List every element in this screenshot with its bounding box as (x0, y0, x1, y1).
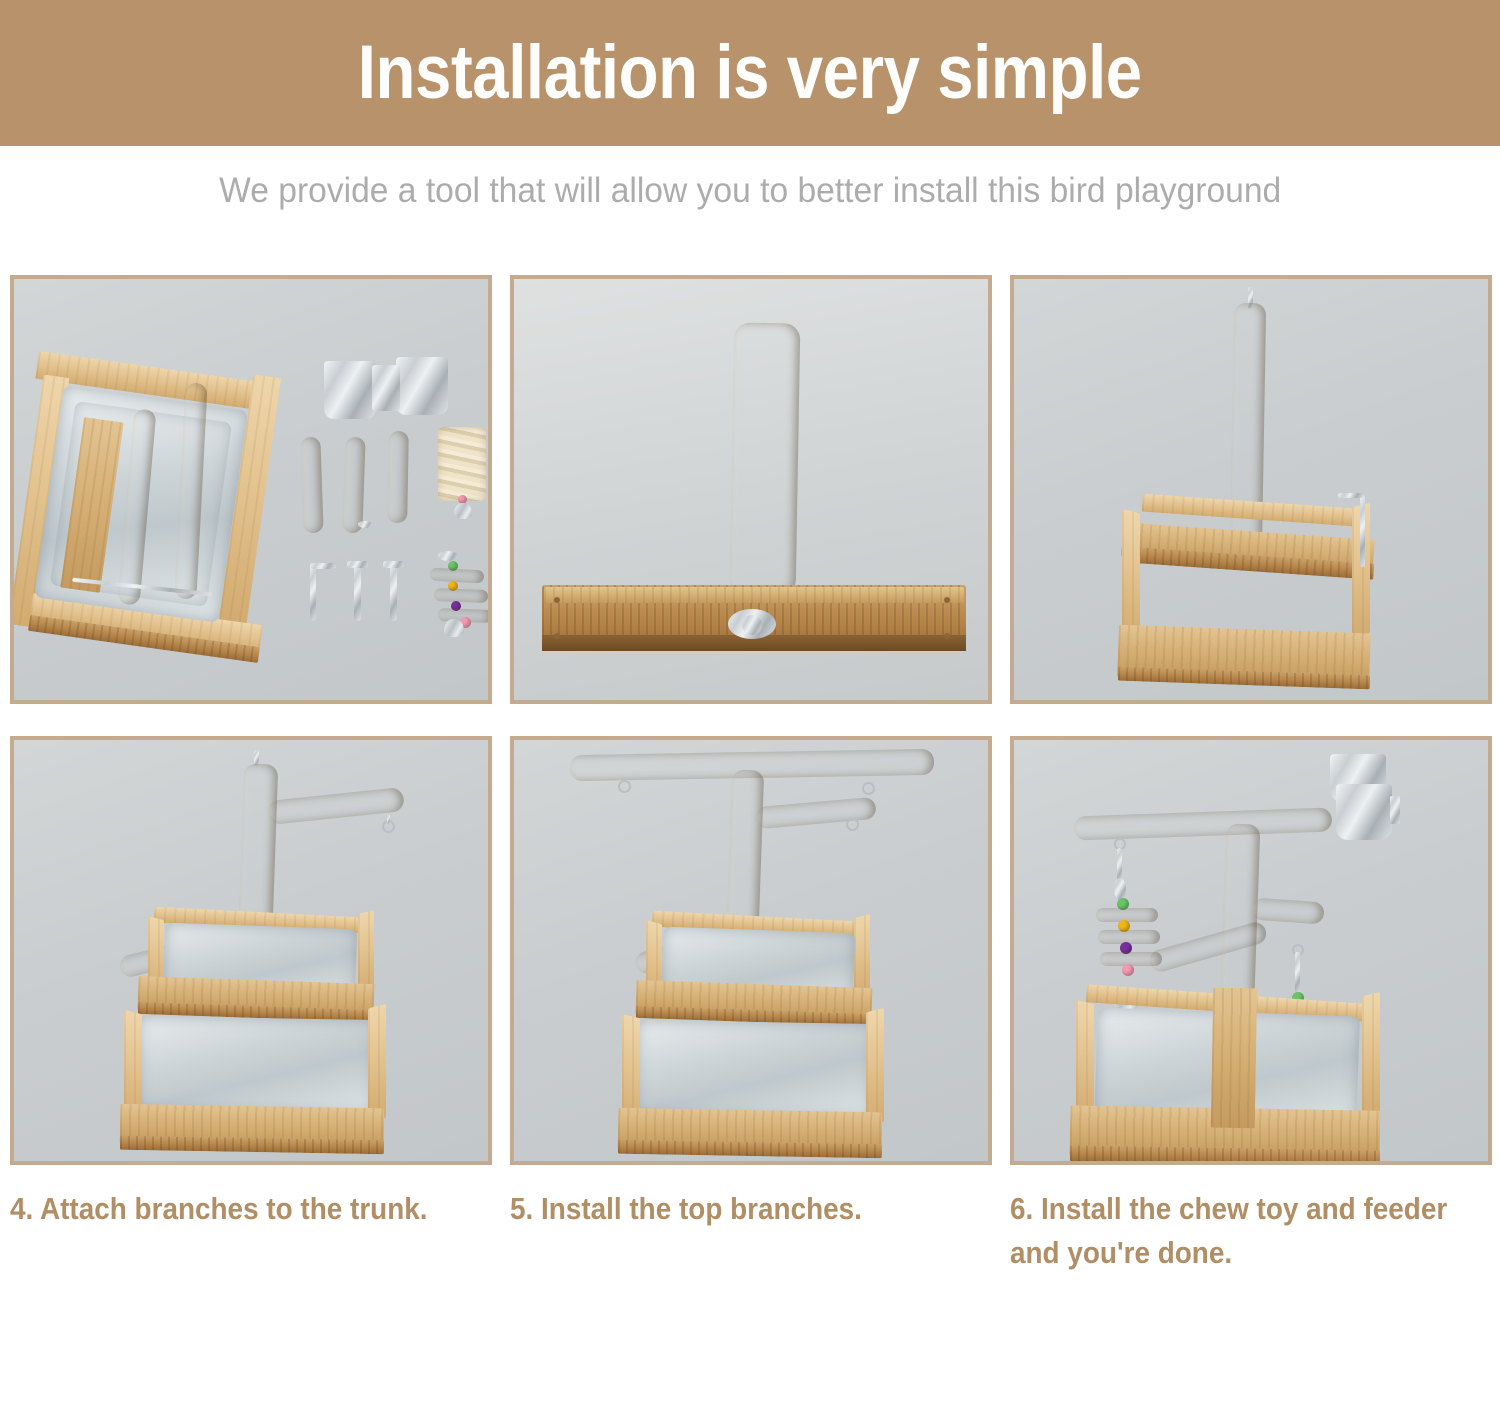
step-card-2: 2. Connect the trunk to the beam. (500, 234, 1000, 704)
step-photo-2 (510, 275, 992, 704)
header-band: Installation is very simple (0, 0, 1500, 146)
step-caption-6: 6. Install the chew toy and feeder and y… (1010, 1187, 1490, 1275)
step-photo-4 (10, 736, 492, 1165)
step-caption-5: 5. Install the top branches. (510, 1187, 990, 1231)
step-card-4: 4. Attach branches to the trunk. (0, 704, 500, 1294)
step-photo-3 (1010, 275, 1492, 704)
step-caption-4: 4. Attach branches to the trunk. (10, 1187, 490, 1231)
steps-row-top: 1. Check the packing list. (0, 234, 1500, 704)
step-photo-6 (1010, 736, 1492, 1165)
step-card-6: 6. Install the chew toy and feeder and y… (1000, 704, 1500, 1294)
step-photo-5 (510, 736, 992, 1165)
page-title: Installation is very simple (358, 35, 1142, 111)
steps-grid: 1. Check the packing list. (0, 234, 1500, 1294)
page-subtitle: We provide a tool that will allow you to… (219, 173, 1281, 208)
step-card-1: 1. Check the packing list. (0, 234, 500, 704)
step-photo-1 (10, 275, 492, 704)
steps-row-bottom: 4. Attach branches to the trunk. (0, 704, 1500, 1294)
step-card-5: 5. Install the top branches. (500, 704, 1000, 1294)
subtitle-row: We provide a tool that will allow you to… (0, 146, 1500, 234)
step-card-3: 3. Fix the beam on the base. (1000, 234, 1500, 704)
installation-guide-page: Installation is very simple We provide a… (0, 0, 1500, 1416)
